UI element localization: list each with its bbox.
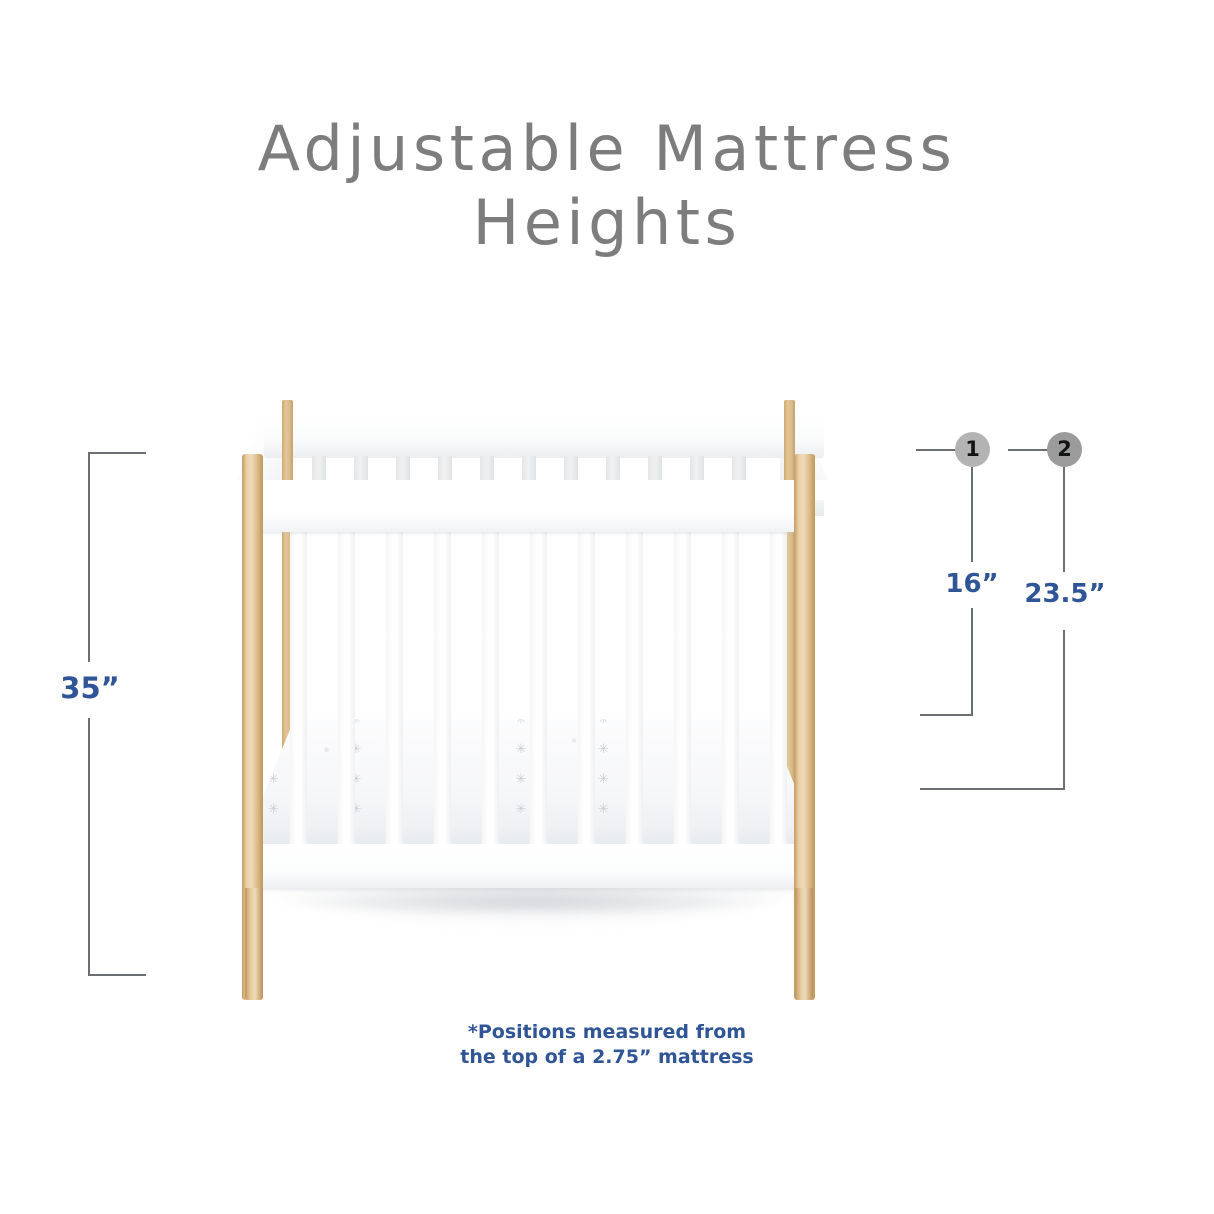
position-1-line-lower <box>971 608 973 716</box>
height-bracket-line-lower <box>88 718 90 976</box>
crib-front-slat <box>722 524 739 848</box>
crib-illustration: ✳ ✳ ✳ ✳ ✳ ✳ ✳ ✳ ✳ ✳ ✳ ✳ ✳ ✳ ✳ ✳ ✳ ✳ ✳ ✳ … <box>228 392 848 1000</box>
position-2-baseline <box>920 788 1065 790</box>
position-2-label: 23.5” <box>1020 572 1110 616</box>
height-bracket-line-upper <box>88 452 90 662</box>
crib-front-slat <box>770 524 787 848</box>
position-1-label: 16” <box>935 562 1009 606</box>
crib-front-slat <box>626 524 643 848</box>
crib-front-slat <box>290 524 307 848</box>
infographic-canvas: Adjustable Mattress Heights ✳ ✳ ✳ ✳ ✳ ✳ … <box>0 0 1214 1214</box>
page-title: Adjustable Mattress Heights <box>0 112 1214 260</box>
crib-front-slat <box>530 524 547 848</box>
crib-front-slat <box>578 524 595 848</box>
crib-front-bottom-rail <box>252 844 808 888</box>
crib-shadow-contact <box>280 890 780 916</box>
height-bracket-top-cap <box>88 452 146 454</box>
crib-front-slat <box>338 524 355 848</box>
position-2-line-upper <box>1063 467 1065 574</box>
position-badge-1[interactable]: 1 <box>955 432 990 467</box>
crib-back-top-rail <box>264 414 824 458</box>
crib-leg-left <box>245 888 263 1000</box>
crib-front-slat <box>434 524 451 848</box>
crib-front-slat <box>674 524 691 848</box>
position-badge-2[interactable]: 2 <box>1047 432 1082 467</box>
footnote-text: *Positions measured from the top of a 2.… <box>0 1020 1214 1070</box>
badge-1-leader-line <box>916 449 958 451</box>
crib-leg-right <box>795 888 813 1000</box>
crib-front-top-rail <box>252 480 808 532</box>
position-2-line-lower <box>1063 630 1065 790</box>
position-1-baseline <box>920 714 973 716</box>
overall-height-label: 35” <box>52 666 128 710</box>
crib-front-slat <box>386 524 403 848</box>
height-bracket-bottom-cap <box>88 974 146 976</box>
position-1-line-upper <box>971 467 973 564</box>
badge-2-leader-line <box>1008 449 1050 451</box>
crib-front-slat <box>482 524 499 848</box>
